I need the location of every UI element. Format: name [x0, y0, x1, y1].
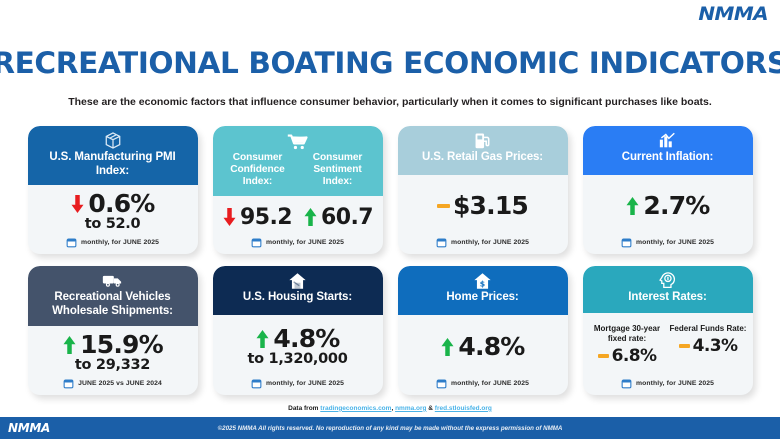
sources-line: Data from tradingeconomics.com, nmma.org… [0, 405, 780, 412]
card-rv-wholesale-shipments: Recreational Vehicles Wholesale Shipment… [28, 266, 198, 394]
stat-row: 0.6% [70, 191, 154, 217]
trend-down-arrow-icon [70, 194, 85, 214]
card-body: 4.8% to 1,320,000 [213, 315, 383, 375]
bar-chart-icon [589, 131, 747, 150]
stat-mortgage-rate: Mortgage 30-year fixed rate: 6.8% [587, 324, 668, 366]
nmma-logo: NMMA [698, 3, 768, 25]
note-text: monthly, for JUNE 2025 [451, 239, 529, 246]
card-header: $ Home Prices: [398, 266, 568, 315]
stat-secondary: to 1,320,000 [248, 351, 348, 367]
trend-up-arrow-icon [625, 196, 640, 216]
bottom-bar: NMMA ©2025 NMMA All rights reserved. No … [0, 417, 780, 439]
stat-secondary: to 52.0 [85, 216, 141, 232]
card-header: Consumer Confidence Index: Consumer Sent… [213, 126, 383, 196]
card-header: U.S. Manufacturing PMI Index: [28, 126, 198, 185]
gas-pump-icon [404, 131, 562, 150]
dual-stats: Mortgage 30-year fixed rate: 6.8% Federa… [587, 324, 749, 366]
svg-text:$: $ [480, 279, 485, 288]
card-title: Recreational Vehicles Wholesale Shipment… [34, 291, 192, 318]
card-header: U.S. Retail Gas Prices: [398, 126, 568, 175]
card-title: U.S. Retail Gas Prices: [404, 151, 562, 165]
note-text: monthly, for JUNE 2025 [451, 380, 529, 387]
stat-value: 6.8% [612, 346, 657, 366]
card-note: monthly, for JUNE 2025 [583, 375, 753, 395]
calendar-icon [621, 237, 632, 248]
note-text: JUNE 2025 vs JUNE 2024 [78, 380, 162, 387]
stat-value: 95.2 [240, 205, 292, 230]
page-title: RECREATIONAL BOATING ECONOMIC INDICATORS [0, 46, 780, 80]
sources-sep-1: & [426, 405, 434, 412]
trend-flat-icon [679, 344, 690, 348]
card-us-retail-gas-prices: U.S. Retail Gas Prices: $3.15 monthly, f… [398, 126, 568, 254]
card-body: 15.9% to 29,332 [28, 326, 198, 375]
card-header: Recreational Vehicles Wholesale Shipment… [28, 266, 198, 325]
trend-up-arrow-icon [255, 329, 270, 349]
trend-up-arrow-icon [303, 207, 318, 227]
infographic-page: NMMA RECREATIONAL BOATING ECONOMIC INDIC… [0, 0, 780, 439]
house-dollar-icon: $ [404, 271, 562, 290]
card-us-manufacturing-pmi: U.S. Manufacturing PMI Index: 0.6% to 52… [28, 126, 198, 254]
calendar-icon [436, 237, 447, 248]
card-note: monthly, for JUNE 2025 [583, 234, 753, 254]
calendar-icon [251, 378, 262, 389]
card-header: Interest Rates: [583, 266, 753, 313]
top-bar: NMMA [0, 0, 780, 30]
card-us-housing-starts: U.S. Housing Starts: 4.8% to 1,320,000 m… [213, 266, 383, 394]
card-title: Current Inflation: [589, 151, 747, 165]
card-body: 0.6% to 52.0 [28, 185, 198, 234]
calendar-icon [436, 378, 447, 389]
stat-row: 6.8% [598, 346, 657, 366]
stat-value: 4.8% [458, 334, 524, 360]
stat-value: 4.3% [693, 336, 738, 356]
card-title: U.S. Housing Starts: [219, 291, 377, 305]
source-link-fred[interactable]: fred.stlouisfed.org [435, 405, 492, 412]
card-interest-rates: Interest Rates: Mortgage 30-year fixed r… [583, 266, 753, 394]
note-text: monthly, for JUNE 2025 [636, 380, 714, 387]
stat-row: 4.3% [679, 336, 738, 356]
stat-consumer-confidence: 95.2 [217, 205, 298, 230]
stat-row: $3.15 [437, 193, 528, 219]
card-note: monthly, for JUNE 2025 [398, 375, 568, 395]
card-title-right: Consumer Sentiment Index: [299, 152, 377, 189]
page-subtitle: These are the economic factors that infl… [0, 96, 780, 108]
trend-up-arrow-icon [440, 337, 455, 357]
card-note: monthly, for JUNE 2025 [213, 375, 383, 395]
card-note: monthly, for JUNE 2025 [398, 234, 568, 254]
stat-secondary: to 29,332 [75, 357, 150, 373]
card-body: 4.8% [398, 315, 568, 375]
dual-stats: 95.2 60.7 [217, 205, 379, 230]
card-consumer-indexes: Consumer Confidence Index: Consumer Sent… [213, 126, 383, 254]
card-header: Current Inflation: [583, 126, 753, 175]
card-title-left: Consumer Confidence Index: [219, 152, 297, 189]
calendar-icon [251, 237, 262, 248]
note-text: monthly, for JUNE 2025 [636, 239, 714, 246]
trend-down-arrow-icon [222, 207, 237, 227]
card-note: monthly, for JUNE 2025 [28, 234, 198, 254]
card-header: U.S. Housing Starts: [213, 266, 383, 315]
note-text: monthly, for JUNE 2025 [266, 239, 344, 246]
card-body: $3.15 [398, 175, 568, 235]
card-body: 95.2 60.7 [213, 196, 383, 235]
card-note: JUNE 2025 vs JUNE 2024 [28, 375, 198, 395]
stat-row: 60.7 [303, 205, 373, 230]
stat-row: 95.2 [222, 205, 292, 230]
stat-label: Mortgage 30-year fixed rate: [587, 324, 668, 344]
calendar-icon [621, 378, 632, 389]
stat-value: $3.15 [453, 193, 528, 219]
stat-row: 15.9% [62, 332, 163, 358]
stat-row: 2.7% [625, 193, 709, 219]
note-text: monthly, for JUNE 2025 [266, 380, 344, 387]
box-package-icon [34, 131, 192, 150]
stat-row: 4.8% [255, 326, 339, 352]
truck-icon [34, 271, 192, 290]
stat-value: 2.7% [643, 193, 709, 219]
trend-up-arrow-icon [62, 335, 77, 355]
stat-consumer-sentiment: 60.7 [298, 205, 379, 230]
stat-value: 60.7 [321, 205, 373, 230]
shopping-cart-icon [219, 132, 377, 151]
card-title: U.S. Manufacturing PMI Index: [34, 151, 192, 178]
stat-row: 4.8% [440, 334, 524, 360]
stat-federal-funds-rate: Federal Funds Rate: 4.3% [668, 324, 749, 356]
stat-value: 15.9% [80, 332, 163, 358]
trend-flat-icon [437, 204, 450, 208]
card-title: Interest Rates: [589, 291, 747, 305]
card-body: Mortgage 30-year fixed rate: 6.8% Federa… [583, 313, 753, 375]
card-body: 2.7% [583, 175, 753, 235]
trend-flat-icon [598, 354, 609, 358]
house-icon [219, 271, 377, 290]
stat-value: 4.8% [273, 326, 339, 352]
card-title-split: Consumer Confidence Index: Consumer Sent… [219, 152, 377, 189]
indicator-grid: U.S. Manufacturing PMI Index: 0.6% to 52… [0, 126, 780, 395]
sources-prefix: Data from [288, 405, 320, 412]
card-title: Home Prices: [404, 291, 562, 305]
source-link-tradingeconomics[interactable]: tradingeconomics.com [320, 405, 391, 412]
stat-value: 0.6% [88, 191, 154, 217]
calendar-icon [63, 378, 74, 389]
calendar-icon [66, 237, 77, 248]
head-percent-icon [589, 271, 747, 290]
note-text: monthly, for JUNE 2025 [81, 239, 159, 246]
stat-label: Federal Funds Rate: [670, 324, 747, 334]
card-home-prices: $ Home Prices: 4.8% monthly, for [398, 266, 568, 394]
card-current-inflation: Current Inflation: 2.7% monthly, for JUN… [583, 126, 753, 254]
card-note: monthly, for JUNE 2025 [213, 234, 383, 254]
source-link-nmma[interactable]: nmma.org [395, 405, 426, 412]
copyright-text: ©2025 NMMA All rights reserved. No repro… [0, 425, 780, 432]
